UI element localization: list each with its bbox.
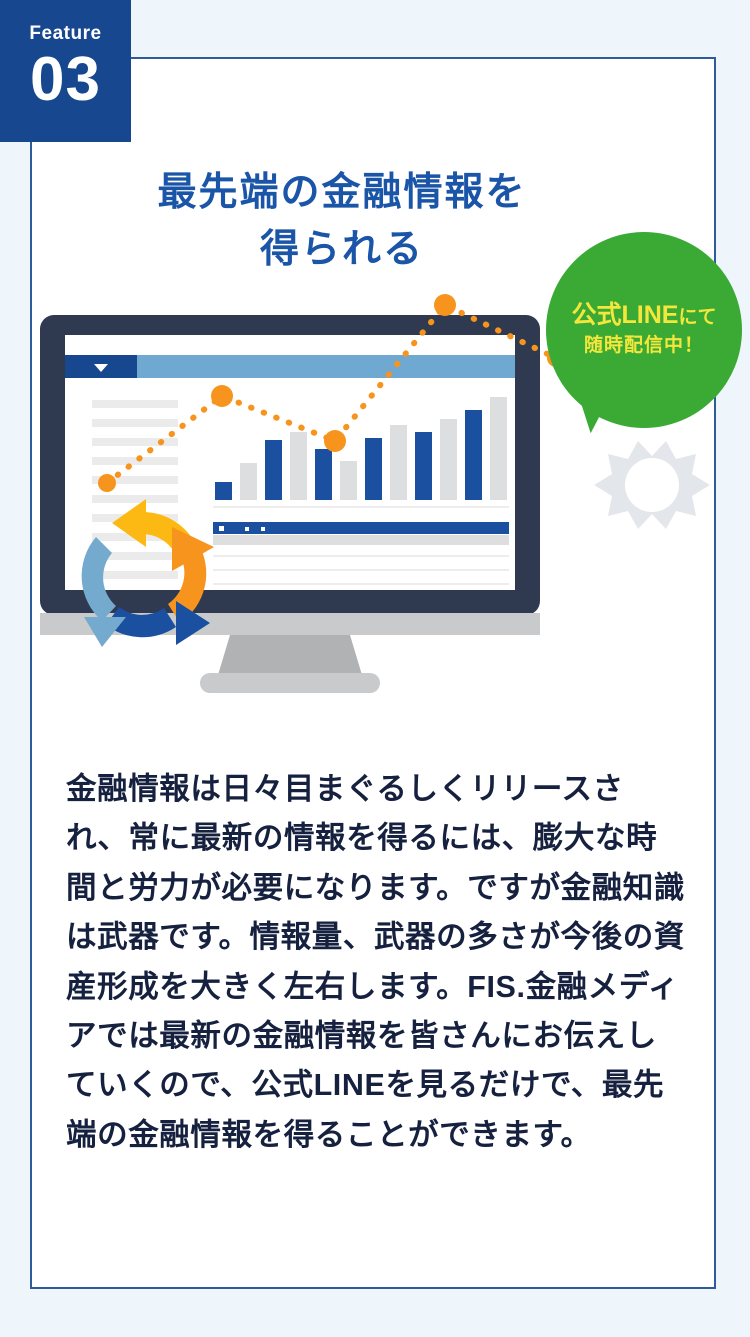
- feature-tab-label: Feature: [29, 24, 101, 43]
- table-row: [213, 569, 509, 571]
- badge-line-1-small: にて: [678, 307, 716, 328]
- official-line-badge[interactable]: 公式LINEにて 随時配信中！: [546, 232, 742, 428]
- trend-point: [211, 385, 233, 407]
- gear-icon: [594, 441, 710, 529]
- table-row: [213, 555, 509, 557]
- feature-tab-number: 03: [30, 49, 101, 111]
- table-row: [213, 583, 509, 585]
- badge-bubble: 公式LINEにて 随時配信中！: [546, 232, 742, 428]
- page-title-line-1: 最先端の金融情報を: [32, 165, 652, 222]
- badge-line-2: 随時配信中！: [584, 334, 704, 359]
- feature-description: 金融情報は日々目まぐるしくリリースされ、常に最新の情報を得るには、膨大な時間と労…: [66, 765, 686, 1160]
- trend-point: [324, 430, 346, 452]
- table-row: [213, 535, 509, 545]
- table-header-row: [213, 522, 509, 534]
- trend-point: [434, 294, 456, 316]
- feature-description-paragraph: 金融情報は日々目まぐるしくリリースされ、常に最新の情報を得るには、膨大な時間と労…: [66, 765, 686, 1160]
- feature-number-tab: Feature 03: [0, 0, 131, 142]
- trend-point: [98, 474, 116, 492]
- badge-line-1: 公式LINEにて: [572, 301, 717, 330]
- badge-line-1-strong: 公式LINE: [572, 301, 679, 329]
